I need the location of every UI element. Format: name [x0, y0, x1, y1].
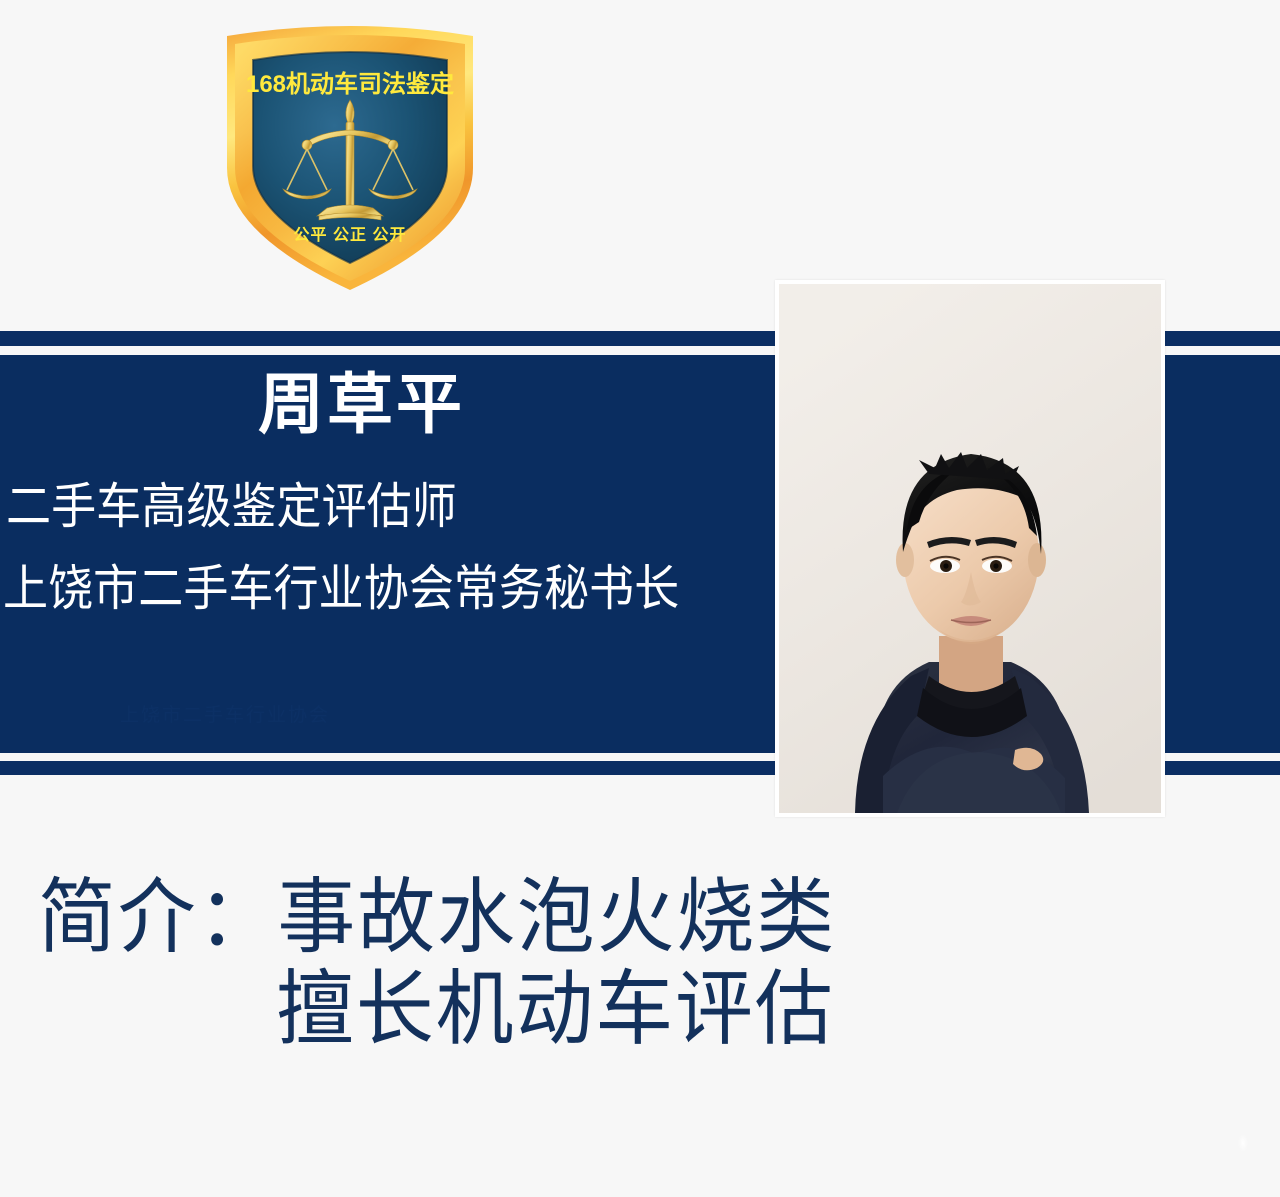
- description-line-2: 擅长机动车评估: [276, 966, 835, 1054]
- portrait-photo-inner: [779, 284, 1161, 813]
- description-line-1: 简介：事故水泡火烧类: [38, 874, 836, 962]
- portrait-photo: [775, 280, 1165, 817]
- logo-org-text: 168机动车司法鉴定: [246, 70, 454, 98]
- corner-artifact: [1238, 1134, 1248, 1152]
- org-logo-badge: 168机动车司法鉴定: [219, 18, 481, 293]
- person-title-line-2: 上饶市二手车行业协会常务秘书长: [3, 563, 679, 615]
- person-title-line-1: 二手车高级鉴定评估师: [6, 481, 457, 533]
- portrait-illustration: [779, 284, 1161, 813]
- shield-scales-badge-icon: 168机动车司法鉴定: [219, 18, 481, 293]
- banner-watermark: 上饶市二手车行业协会: [120, 700, 540, 732]
- person-name: 周草平: [258, 368, 465, 440]
- logo-motto-text: 公平 公正 公开: [294, 226, 407, 244]
- poster-canvas: 168机动车司法鉴定: [0, 0, 1280, 1197]
